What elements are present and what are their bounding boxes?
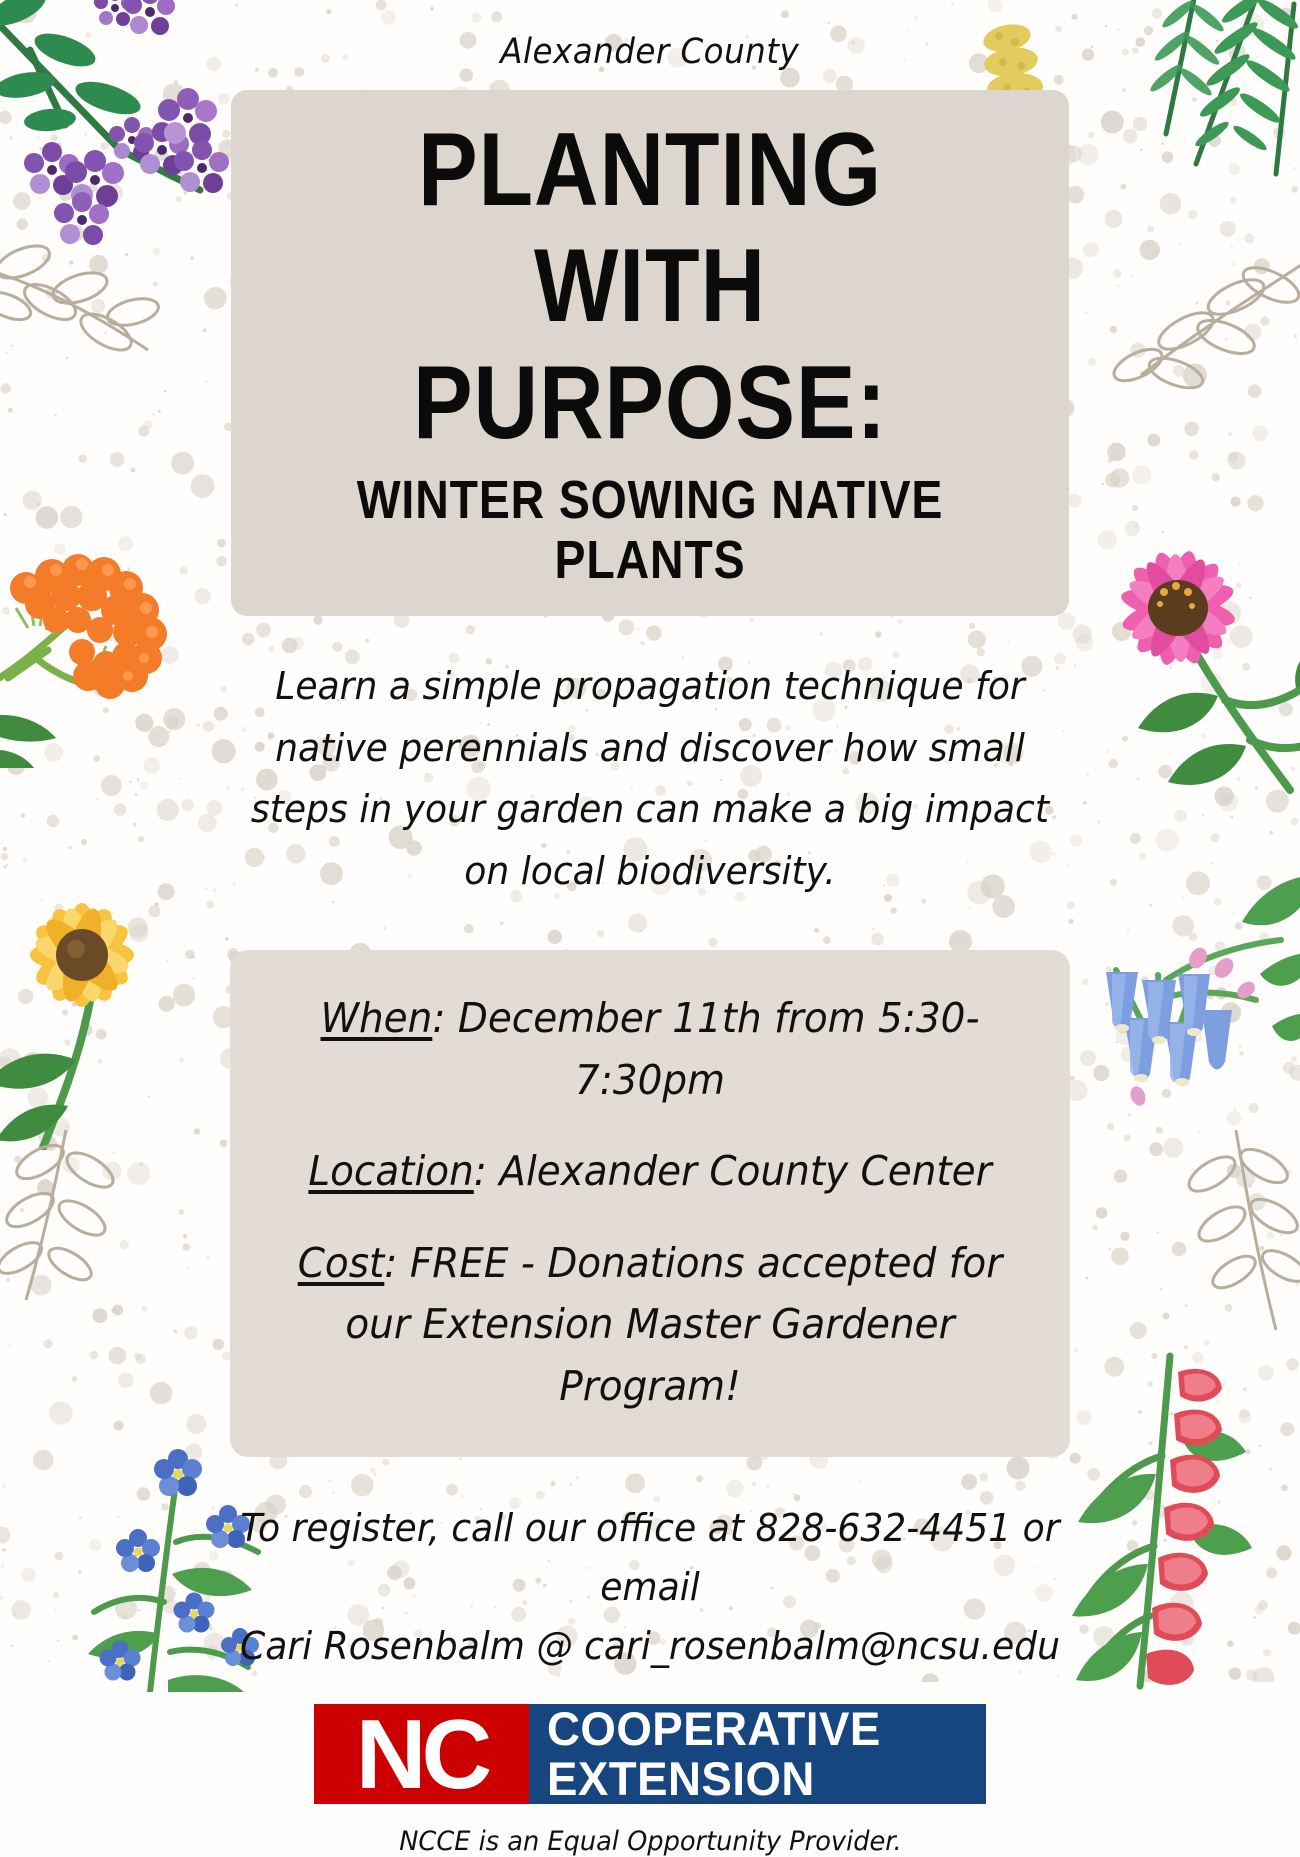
event-details-box: When: December 11th from 5:30-7:30pm Loc…: [230, 950, 1070, 1457]
logo-extension-text: EXTENSION: [547, 1754, 973, 1804]
county-header: Alexander County: [501, 32, 800, 72]
title-line-2: WITH PURPOSE:: [310, 228, 989, 461]
registration-line-1: To register, call our office at 828-632-…: [232, 1499, 1068, 1617]
detail-location: Location: Alexander County Center: [295, 1141, 1006, 1203]
detail-cost-label: Cost: [298, 1239, 385, 1287]
detail-when: When: December 11th from 5:30-7:30pm: [295, 988, 1006, 1111]
logo-nc-block: NC: [314, 1704, 529, 1804]
detail-when-value: : December 11th from 5:30-7:30pm: [432, 994, 979, 1104]
detail-when-label: When: [320, 994, 432, 1042]
registration-line-2: Cari Rosenbalm @ cari_rosenbalm@ncsu.edu: [232, 1617, 1068, 1676]
event-description: Learn a simple propagation technique for…: [232, 656, 1068, 902]
nc-cooperative-extension-logo: NC COOPERATIVE EXTENSION: [314, 1704, 986, 1804]
detail-cost: Cost: FREE - Donations accepted for our …: [295, 1233, 1006, 1418]
title-line-1: PLANTING: [310, 112, 989, 228]
logo-cooperative-text: COOPERATIVE: [547, 1704, 973, 1754]
equal-opportunity-footer: NCCE is an Equal Opportunity Provider.: [399, 1826, 901, 1857]
registration-info: To register, call our office at 828-632-…: [232, 1499, 1068, 1676]
logo-extension-block: COOPERATIVE EXTENSION: [529, 1704, 986, 1804]
title-subtitle: WINTER SOWING NATIVE PLANTS: [310, 471, 989, 590]
logo-nc-text: NC: [356, 1705, 488, 1803]
title-box: PLANTING WITH PURPOSE: WINTER SOWING NAT…: [231, 90, 1069, 616]
detail-location-value: : Alexander County Center: [474, 1147, 992, 1195]
detail-cost-value: : FREE - Donations accepted for our Exte…: [345, 1239, 1002, 1410]
detail-location-label: Location: [308, 1147, 473, 1195]
